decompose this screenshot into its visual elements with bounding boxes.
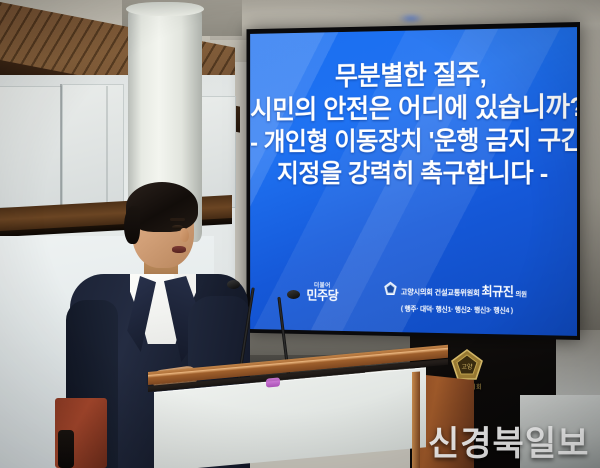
photo-stage: 고양 고양시의회 무분별한 질주, 시민의 안전은 어디에 있습니까? - 개인… [0,0,600,468]
council-name: 고양시의회 [401,286,433,297]
ceiling-blue-reflection-1 [398,14,424,23]
speaker-mouth [172,246,186,253]
member-credit-block: 고양시의회 건설교통위원회 최규진 의원 ( 행주· 대덕· 행신1· 행신2·… [384,279,567,318]
microphone-right-head [287,290,300,299]
party-logo-main: 민주당 [292,289,353,303]
speaker-nose [180,228,189,242]
speaker-sideburn [124,206,140,244]
goyang-council-emblem-icon [384,281,397,296]
member-name: 최규진 [481,281,513,300]
speaker-eyebrow [170,218,185,221]
slide-footer: 더불어 민주당 고양시의회 건설교통위원회 최규진 [250,277,577,321]
council-emblem-icon: 고양 [450,348,484,382]
watermark-text: 신경북일보 [428,416,589,465]
slide-line-3: - 개인형 이동장치 '운행 금지 구간' [250,126,577,156]
slide-line-4: 지정을 강력히 촉구합니다 - [250,159,577,188]
slide-line-1: 무분별한 질주, [250,59,577,93]
microphone-left-head [227,280,240,289]
slide-text-block: 무분별한 질주, 시민의 안전은 어디에 있습니까? - 개인형 이동장치 '운… [250,59,577,188]
chair-armrest [58,430,74,468]
party-logo: 더불어 민주당 [292,280,353,303]
podium-indicator-light [266,377,280,387]
wall-panel-1 [0,86,62,208]
member-credit-text: 고양시의회 건설교통위원회 최규진 의원 ( 행주· 대덕· 행신1· 행신2·… [401,280,567,319]
svg-text:고양: 고양 [461,363,473,371]
member-suffix: 의원 [515,288,526,298]
podium-side-edge [412,371,420,468]
projection-screen: 무분별한 질주, 시민의 안전은 어디에 있습니까? - 개인형 이동장치 '운… [250,27,577,336]
committee-name: 건설교통위원회 [435,287,480,299]
member-credit-line-1: 고양시의회 건설교통위원회 최규진 의원 [401,280,567,301]
member-districts: ( 행주· 대덕· 행신1· 행신2· 행신3· 행신4 ) [401,306,513,315]
party-logo-top: 더불어 [292,280,353,290]
white-column-cap [126,2,204,16]
slide-line-2: 시민의 안전은 어디에 있습니까? [250,93,577,125]
podium [148,372,448,468]
